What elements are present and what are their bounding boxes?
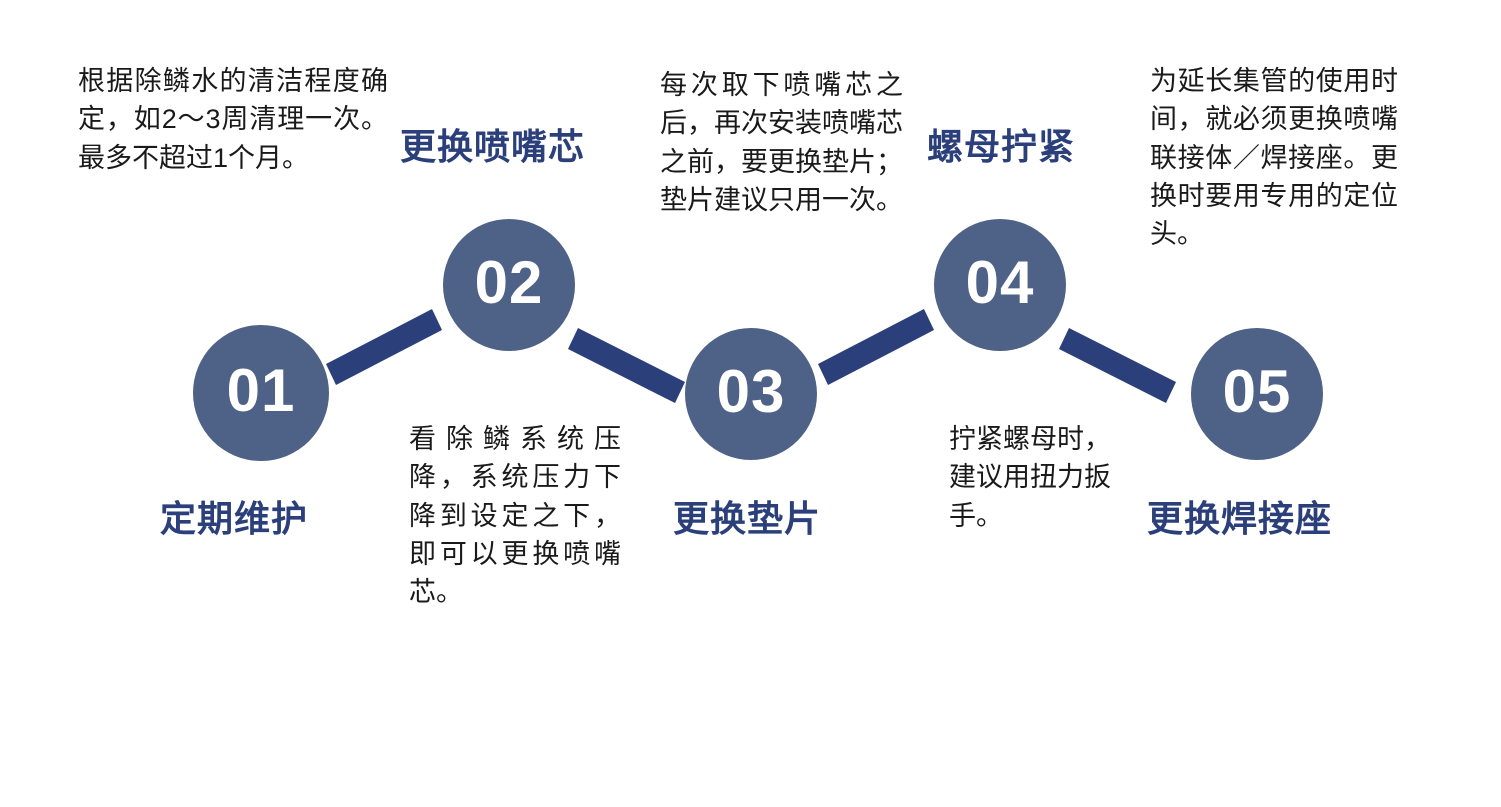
step-title-04: 螺母拧紧 — [927, 126, 1075, 167]
connector-02-03 — [568, 328, 685, 403]
step-circle-03[interactable]: 03 — [685, 328, 817, 460]
step-title-01: 定期维护 — [160, 498, 308, 539]
step-description-02: 看除鳞系统压降，系统压力下降到设定之下，即可以更换喷嘴芯。 — [409, 420, 621, 612]
step-description-04: 拧紧螺母时，建议用扭力扳手。 — [949, 420, 1111, 535]
step-description-01: 根据除鳞水的清洁程度确定，如2～3周清理一次。最多不超过1个月。 — [78, 62, 388, 177]
connector-01-02 — [326, 309, 442, 385]
step-title-03: 更换垫片 — [673, 498, 821, 539]
step-circle-05[interactable]: 05 — [1191, 328, 1323, 460]
connector-04-05 — [1059, 328, 1176, 403]
step-number-03: 03 — [717, 362, 786, 422]
step-circle-02[interactable]: 02 — [443, 219, 575, 351]
infographic-canvas: 根据除鳞水的清洁程度确定，如2～3周清理一次。最多不超过1个月。 01 定期维护… — [0, 0, 1501, 807]
connector-03-04 — [818, 309, 934, 385]
step-number-01: 01 — [227, 361, 296, 421]
step-number-04: 04 — [966, 253, 1035, 313]
step-description-05: 为延长集管的使用时间，就必须更换喷嘴联接体／焊接座。更换时要用专用的定位头。 — [1150, 62, 1398, 254]
step-circle-04[interactable]: 04 — [934, 219, 1066, 351]
step-title-02: 更换喷嘴芯 — [400, 126, 585, 167]
step-number-05: 05 — [1223, 362, 1292, 422]
step-description-03: 每次取下喷嘴芯之后，再次安装喷嘴芯之前，要更换垫片；垫片建议只用一次。 — [660, 66, 903, 219]
step-title-05: 更换焊接座 — [1147, 498, 1332, 539]
step-number-02: 02 — [475, 253, 544, 313]
step-circle-01[interactable]: 01 — [193, 325, 329, 461]
